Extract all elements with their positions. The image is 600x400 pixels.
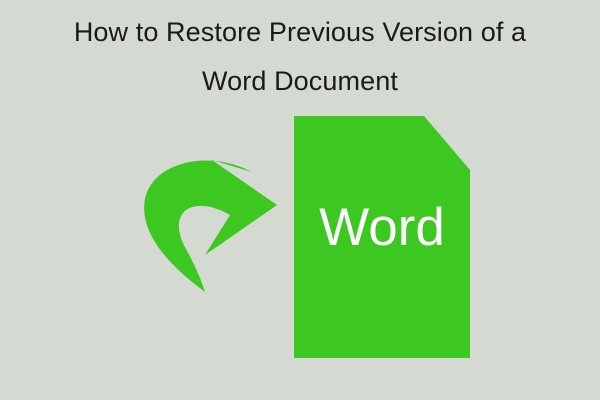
curved-redo-arrow-icon xyxy=(144,160,277,292)
poster-canvas: How to Restore Previous Version of a Wor… xyxy=(0,0,600,400)
word-document-icon xyxy=(294,116,470,358)
illustration xyxy=(0,0,600,400)
